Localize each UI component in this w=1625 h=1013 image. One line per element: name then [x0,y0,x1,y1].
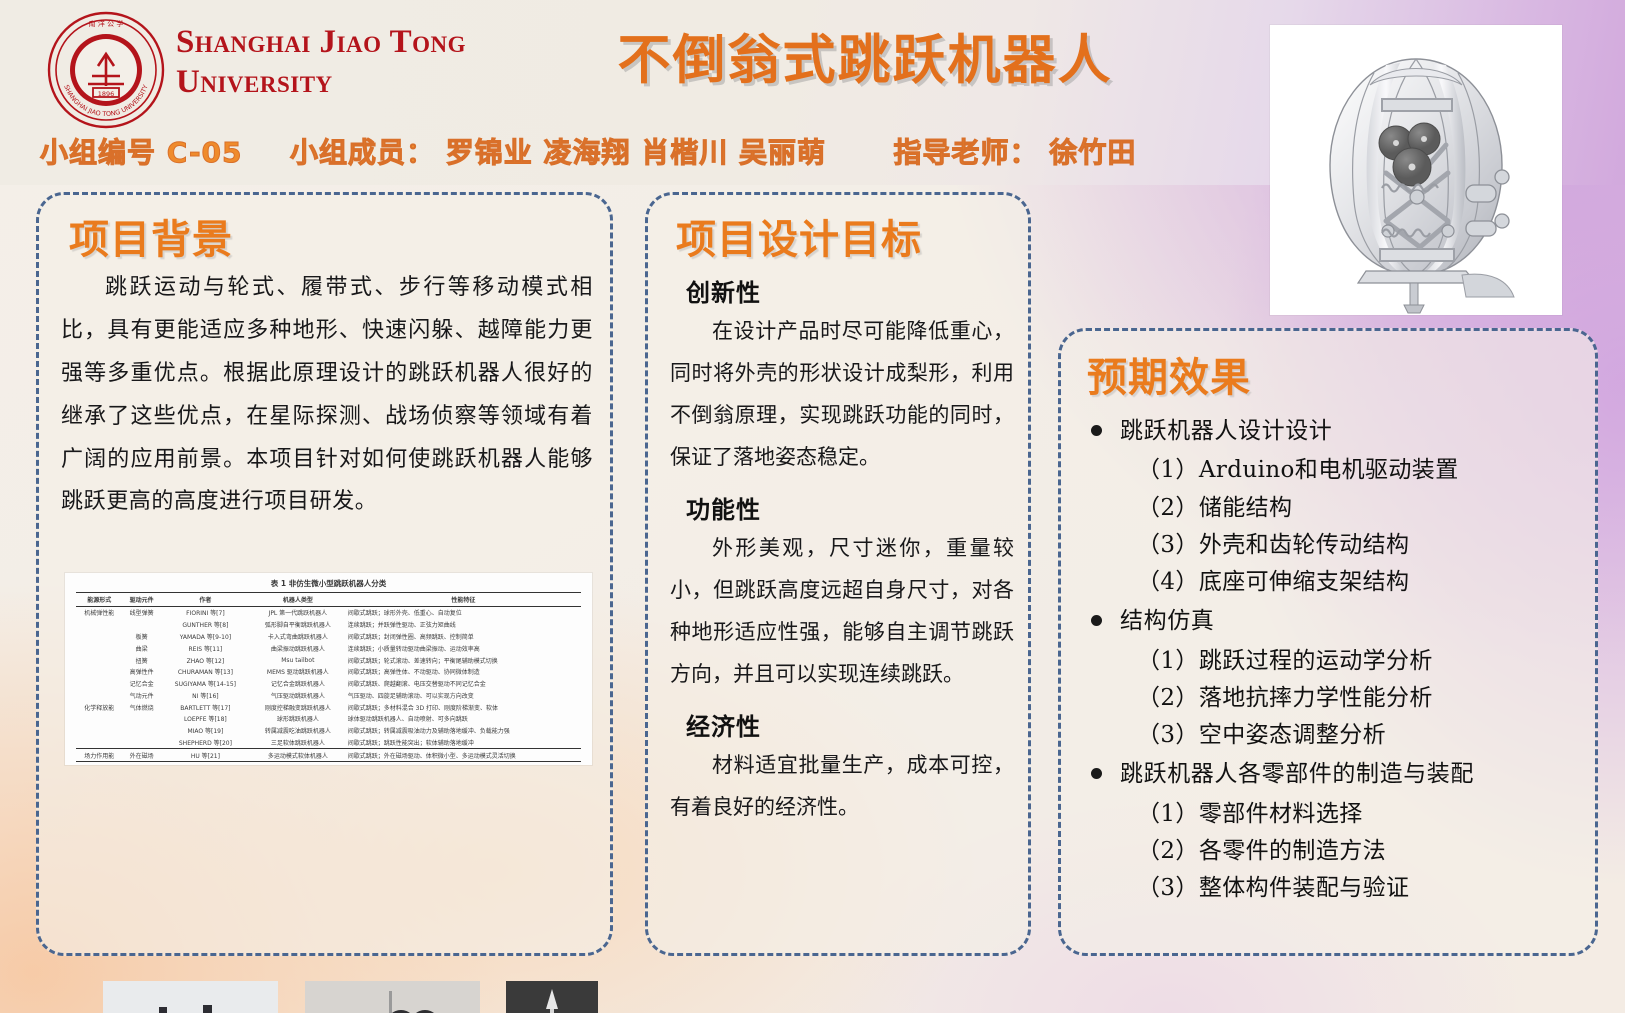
table-cell [76,631,123,643]
table-cell: 间歇式跳跃；高弹性体、不动驱动、协同微体制造 [346,666,581,678]
table-cell: BARTLETT 等[17] [161,701,250,713]
bullet-label: 跳跃机器人各零部件的制造与装配 [1120,756,1474,793]
table-cell: 间歇式跳跃、爬越翻滚、电压交替驱动不同记忆合金 [346,678,581,690]
table-cell: 球形跳跃机器人 [250,713,346,725]
svg-text:南 洋 公 学: 南 洋 公 学 [89,19,124,28]
table-cell: FIORINI 等[7] [161,607,250,619]
table-row: 高弹性件CHURAMAN 等[13]MEMS 驱动跳跃机器人间歇式跳跃；高弹性体… [76,666,581,678]
table-cell: 连续跳跃；并跃弹性驱动、正弦力矩曲线 [346,619,581,631]
table-row: 记忆合金SUGIYAMA 等[14-15]记忆合金跳跃机器人间歇式跳跃、爬越翻滚… [76,678,581,690]
panel-goals-title: 项目设计目标 [676,207,922,265]
jumping-robot-photo-1 [103,981,278,1013]
bullet-dot-icon [1091,768,1102,779]
goal-body: 外形美观，尺寸迷你，重量较小，但跳跃高度远超自身尺寸，对各种地形适应性强，能够自… [670,527,1014,695]
table-row: 曲梁REIS 等[11]曲梁振动跳跃机器人连续跳跃；小质量转动驱动曲梁振动、运动… [76,642,581,654]
goal-subheading: 经济性 [686,707,1014,742]
panel-expected-title: 预期效果 [1087,345,1251,403]
table-col-1: 驱动元件 [123,593,161,607]
table-cell [76,654,123,666]
team-info-line: 小组编号 C-05 小组成员： 罗锦业 凌海翔 肖楷川 吴丽萌 指导老师： 徐竹… [40,131,1220,171]
panel-project-background: 项目背景 跳跃运动与轮式、履带式、步行等移动模式相比，具有更能适应多种地形、快速… [36,192,613,956]
table-cell: 高弹性件 [123,666,161,678]
table-col-0: 能源形式 [76,593,123,607]
table-cell: MIAO 等[19] [161,725,250,737]
list-item: （3）整体构件装配与验证 [1137,870,1577,907]
table-header-row: 能源形式 驱动元件 作者 机器人类型 性能特征 [76,593,581,607]
table-cell: 机械弹性能 [76,607,123,619]
table-row: 机械弹性能线型弹簧FIORINI 等[7]JPL 第一代跳跃机器人间歇式跳跃；球… [76,607,581,619]
table-cell: 曲梁 [123,642,161,654]
list-item: （2）储能结构 [1137,490,1577,527]
university-name-line2: University [176,62,596,102]
table-row: SHEPHERD 等[20]三足软体跳跃机器人间歇式跳跃；跳跃性能突出；软体辅助… [76,737,581,749]
table-cell [76,713,123,725]
goal-subheading: 创新性 [686,273,1014,308]
panel-background-body: 跳跃运动与轮式、履带式、步行等移动模式相比，具有更能适应多种地形、快速闪躲、越障… [61,267,593,524]
table-cell: 间歇式跳跃；轮式滚动、差速转向；平衡尾辅助模式切换 [346,654,581,666]
spring-robot-photo-3 [506,981,598,1013]
table-cell: GUNTHER 等[8] [161,619,250,631]
reference-table: 能源形式 驱动元件 作者 机器人类型 性能特征 机械弹性能线型弹簧FIORINI… [76,592,581,762]
table-cell: 气压驱动、四旋足辅助滚动、可以实现方向改变 [346,689,581,701]
table-cell: 转属减震吃油跳跃机器人 [250,725,346,737]
table-cell: LOEPFE 等[18] [161,713,250,725]
poster-main-title: 不倒翁式跳跃机器人 [585,18,1145,94]
table-cell: 间歇式跳跃；球形外壳、低重心、自动复位 [346,607,581,619]
reference-table-image: 表 1 非仿生微小型跳跃机器人分类 能源形式 驱动元件 作者 机器人类型 性能特… [65,573,592,765]
table-cell: 弧形脚自平衡跳跃机器人 [250,619,346,631]
goals-sections: 创新性在设计产品时尽可能降低重心，同时将外壳的形状设计成梨形，利用不倒翁原理，实… [670,273,1014,840]
goal-body: 在设计产品时尽可能降低重心，同时将外壳的形状设计成梨形，利用不倒翁原理，实现跳跃… [670,310,1014,478]
table-cell [123,619,161,631]
table-cell: 多运动模式软体机器人 [250,749,346,762]
table-cell: 三足软体跳跃机器人 [250,737,346,749]
bullet-row: 结构仿真 [1085,603,1577,640]
expected-list: 跳跃机器人设计设计（1）Arduino和电机驱动装置（2）储能结构（3）外壳和齿… [1085,411,1577,907]
table-cell: 气体燃烧 [123,701,161,713]
list-item: （2）落地抗摔力学性能分析 [1137,680,1577,717]
table-cell: 曲梁振动跳跃机器人 [250,642,346,654]
table-cell: 连续跳跃；小质量转动驱动曲梁振动、运动效率高 [346,642,581,654]
jumping-robot-cad-render [1270,25,1562,315]
table-cell: 气动元件 [123,689,161,701]
table-cell: 刚度控梯融变跳跃机器人 [250,701,346,713]
advisor-name: 徐竹田 [1049,131,1136,171]
list-item: （1）零部件材料选择 [1137,796,1577,833]
table-row: GUNTHER 等[8]弧形脚自平衡跳跃机器人连续跳跃；并跃弹性驱动、正弦力矩曲… [76,619,581,631]
table-cell: CHURAMAN 等[13] [161,666,250,678]
table-row: 气动元件NI 等[16]气压驱动跳跃机器人气压驱动、四旋足辅助滚动、可以实现方向… [76,689,581,701]
goal-body: 材料适宜批量生产，成本可控，有着良好的经济性。 [670,744,1014,828]
table-cell: 卡入式弯曲跳跃机器人 [250,631,346,643]
goal-subheading: 功能性 [686,490,1014,525]
bullet-dot-icon [1091,615,1102,626]
panel-design-goals: 项目设计目标 创新性在设计产品时尽可能降低重心，同时将外壳的形状设计成梨形，利用… [645,192,1031,956]
table-cell: 球体驱动跳跃机器人、自动喷射、可多向跳跃 [346,713,581,725]
table-cell: 外在磁场 [123,749,161,762]
sjtu-seal-logo: 1896 南 洋 公 学 SHANGHAI JIAO TONG UNIVERSI… [46,10,166,130]
table-row: 化学释放能气体燃烧BARTLETT 等[17]刚度控梯融变跳跃机器人间歇式跳跃；… [76,701,581,713]
table-cell: 记忆合金 [123,678,161,690]
poster-canvas: 1896 南 洋 公 学 SHANGHAI JIAO TONG UNIVERSI… [0,0,1625,1013]
table-cell [76,737,123,749]
table-cell [76,666,123,678]
bullet-label: 跳跃机器人设计设计 [1120,413,1332,450]
table-col-2: 作者 [161,593,250,607]
table-cell [76,642,123,654]
table-cell: 间歇式跳跃；封闭弹性圈、高频跳跃、控制简单 [346,631,581,643]
reference-table-caption: 表 1 非仿生微小型跳跃机器人分类 [65,573,592,589]
table-cell [123,713,161,725]
panel-expected-results: 预期效果 跳跃机器人设计设计（1）Arduino和电机驱动装置（2）储能结构（3… [1058,328,1598,956]
table-cell: NI 等[16] [161,689,250,701]
table-cell: 间歇式跳跃；跳跃性能突出；软体辅助落地缓冲 [346,737,581,749]
table-cell: 气压驱动跳跃机器人 [250,689,346,701]
table-cell [76,689,123,701]
table-cell: 间歇式跳跃；外在磁场驱动、体积微小型、多运动模式灵活切换 [346,749,581,762]
table-cell: 化学释放能 [76,701,123,713]
members-names: 罗锦业 凌海翔 肖楷川 吴丽萌 [446,131,826,171]
table-row: 板簧YAMADA 等[9-10]卡入式弯曲跳跃机器人间歇式跳跃；封闭弹性圈、高频… [76,631,581,643]
bullet-label: 结构仿真 [1120,603,1214,640]
table-cell: YAMADA 等[9-10] [161,631,250,643]
table-row: LOEPFE 等[18]球形跳跃机器人球体驱动跳跃机器人、自动喷射、可多向跳跃 [76,713,581,725]
svg-text:1896: 1896 [98,90,115,98]
table-cell: 间歇式跳跃；多材料混合 3D 打印、刚度阶梯渐变、软体 [346,701,581,713]
table-cell: REIS 等[11] [161,642,250,654]
list-item: （2）各零件的制造方法 [1137,833,1577,870]
members-label: 小组成员： [290,131,435,171]
table-cell: MEMS 驱动跳跃机器人 [250,666,346,678]
table-cell: 间歇式跳跃；转属减震吸油动力及辅助落地缓冲、负载能力强 [346,725,581,737]
table-row: 扭簧ZHAO 等[12]Msu tailbot间歇式跳跃；轮式滚动、差速转向；平… [76,654,581,666]
table-cell: Msu tailbot [250,654,346,666]
table-cell: HU 等[21] [161,749,250,762]
list-item: （1）Arduino和电机驱动装置 [1137,452,1577,489]
list-item: （4）底座可伸缩支架结构 [1137,564,1577,601]
table-cell: ZHAO 等[12] [161,654,250,666]
table-cell: SUGIYAMA 等[14-15] [161,678,250,690]
table-col-4: 性能特征 [346,593,581,607]
table-cell [76,725,123,737]
university-name-line1: Shanghai Jiao Tong [176,22,596,62]
table-col-3: 机器人类型 [250,593,346,607]
table-cell [123,737,161,749]
table-row: MIAO 等[19]转属减震吃油跳跃机器人间歇式跳跃；转属减震吸油动力及辅助落地… [76,725,581,737]
panel-background-title: 项目背景 [69,207,233,265]
table-cell: 板簧 [123,631,161,643]
bullet-row: 跳跃机器人各零部件的制造与装配 [1085,756,1577,793]
table-row: 场力作用能外在磁场HU 等[21]多运动模式软体机器人间歇式跳跃；外在磁场驱动、… [76,749,581,762]
table-cell: JPL 第一代跳跃机器人 [250,607,346,619]
bullet-row: 跳跃机器人设计设计 [1085,413,1577,450]
university-name-en: Shanghai Jiao Tong University [176,22,596,103]
quadruped-robot-photo-2 [305,981,480,1013]
table-cell [76,678,123,690]
table-cell [76,619,123,631]
table-cell: 记忆合金跳跃机器人 [250,678,346,690]
table-cell: SHEPHERD 等[20] [161,737,250,749]
advisor-label: 指导老师： [894,131,1039,171]
list-item: （3）外壳和齿轮传动结构 [1137,527,1577,564]
list-item: （1）跳跃过程的运动学分析 [1137,643,1577,680]
representative-robot-photos [103,981,598,1013]
bullet-dot-icon [1091,425,1102,436]
list-item: （3）空中姿态调整分析 [1137,717,1577,754]
table-cell: 场力作用能 [76,749,123,762]
table-cell: 扭簧 [123,654,161,666]
table-cell [123,725,161,737]
group-number-label: 小组编号 C-05 [40,131,243,171]
table-cell: 线型弹簧 [123,607,161,619]
